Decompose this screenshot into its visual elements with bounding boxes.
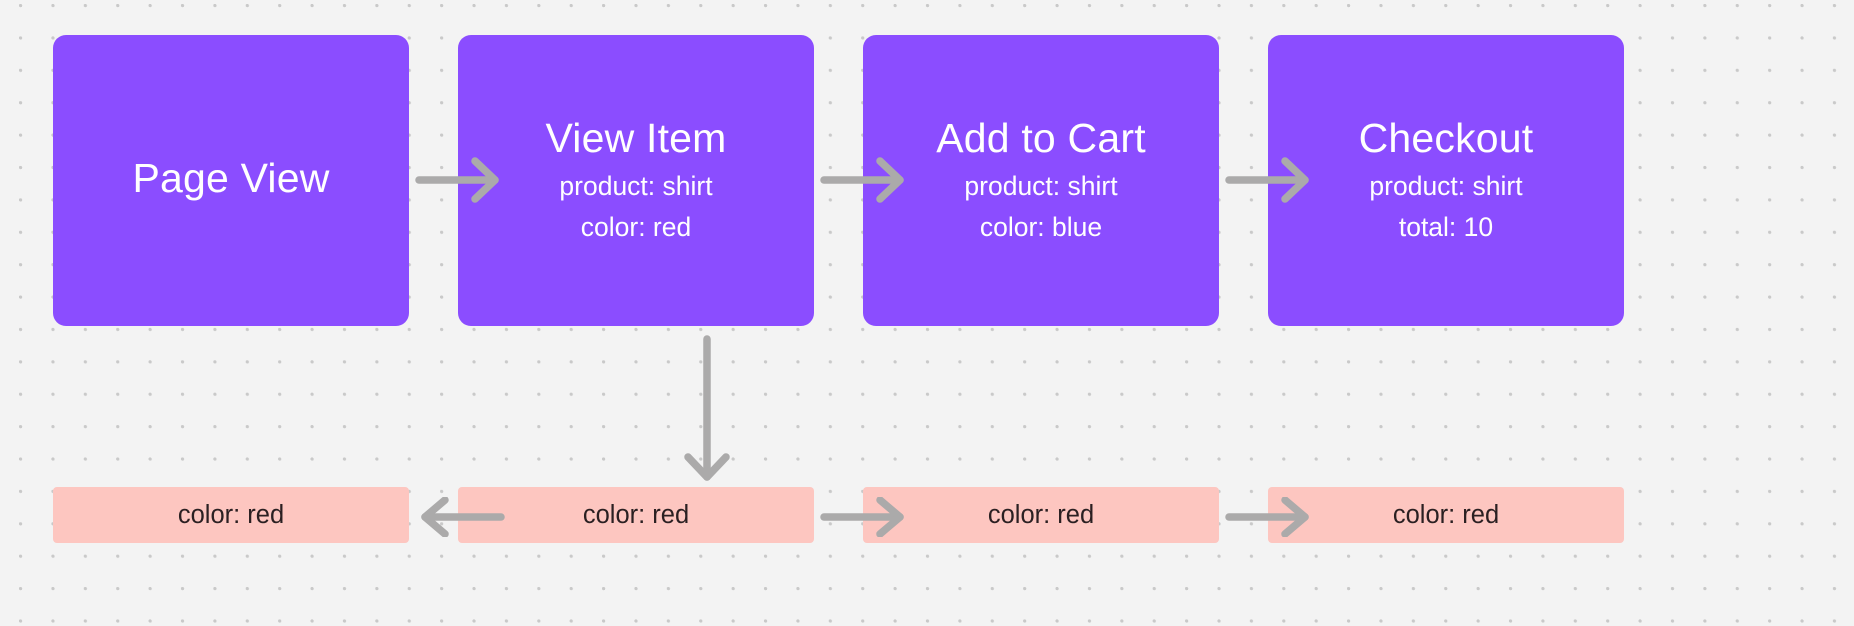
arrow-right-icon <box>415 155 505 205</box>
event-node-page-view[interactable]: Page View <box>53 35 409 326</box>
diagram-canvas: Page View View Item product: shirt color… <box>0 0 1854 626</box>
arrow-right-icon <box>1225 155 1315 205</box>
arrow-left-icon <box>415 497 505 537</box>
event-property: color: blue <box>980 207 1102 248</box>
event-properties: product: shirt total: 10 <box>1369 166 1522 248</box>
event-node-add-to-cart[interactable]: Add to Cart product: shirt color: blue <box>863 35 1219 326</box>
property-node[interactable]: color: red <box>53 487 409 543</box>
event-property: total: 10 <box>1399 207 1493 248</box>
arrow-down-icon <box>679 335 735 485</box>
property-node[interactable]: color: red <box>863 487 1219 543</box>
property-node[interactable]: color: red <box>1268 487 1624 543</box>
property-node[interactable]: color: red <box>458 487 814 543</box>
event-title: Checkout <box>1359 114 1534 162</box>
event-node-checkout[interactable]: Checkout product: shirt total: 10 <box>1268 35 1624 326</box>
event-title: Page View <box>132 154 329 202</box>
event-property: product: shirt <box>559 166 712 207</box>
event-node-view-item[interactable]: View Item product: shirt color: red <box>458 35 814 326</box>
arrow-right-icon <box>820 155 910 205</box>
event-properties: product: shirt color: blue <box>964 166 1117 248</box>
event-property: color: red <box>581 207 691 248</box>
arrow-right-icon <box>1225 497 1315 537</box>
event-title: View Item <box>545 114 726 162</box>
event-title: Add to Cart <box>936 114 1146 162</box>
arrow-right-icon <box>820 497 910 537</box>
event-property: product: shirt <box>964 166 1117 207</box>
event-property: product: shirt <box>1369 166 1522 207</box>
event-properties: product: shirt color: red <box>559 166 712 248</box>
